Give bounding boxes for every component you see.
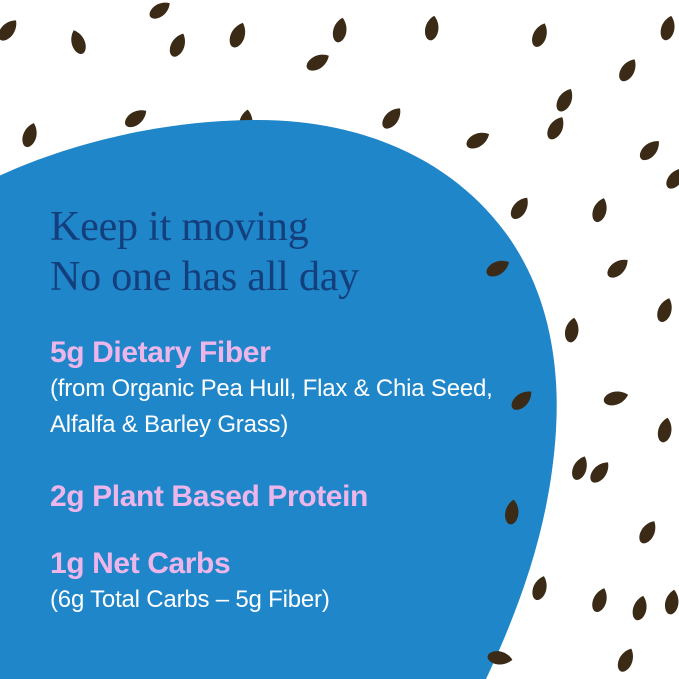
- fact-net-carbs: 1g Net Carbs (6g Total Carbs – 5g Fiber): [50, 547, 520, 618]
- fact-heading-fiber: 5g Dietary Fiber: [50, 336, 520, 370]
- product-benefit-graphic: Keep it moving No one has all day 5g Die…: [0, 0, 679, 679]
- fact-plant-protein: 2g Plant Based Protein: [50, 480, 520, 514]
- fact-heading-carbs: 1g Net Carbs: [50, 547, 520, 581]
- fact-heading-protein: 2g Plant Based Protein: [50, 480, 520, 514]
- fact-subtext-carbs: (6g Total Carbs – 5g Fiber): [50, 582, 520, 618]
- page-title: Keep it moving No one has all day: [50, 203, 520, 302]
- spacer-protein-carbs: [50, 520, 520, 547]
- fact-dietary-fiber: 5g Dietary Fiber (from Organic Pea Hull,…: [50, 336, 520, 444]
- benefit-copy-block: Keep it moving No one has all day 5g Die…: [50, 203, 520, 625]
- fact-subtext-fiber: (from Organic Pea Hull, Flax & Chia Seed…: [50, 371, 520, 444]
- spacer-fiber-protein: [50, 451, 520, 480]
